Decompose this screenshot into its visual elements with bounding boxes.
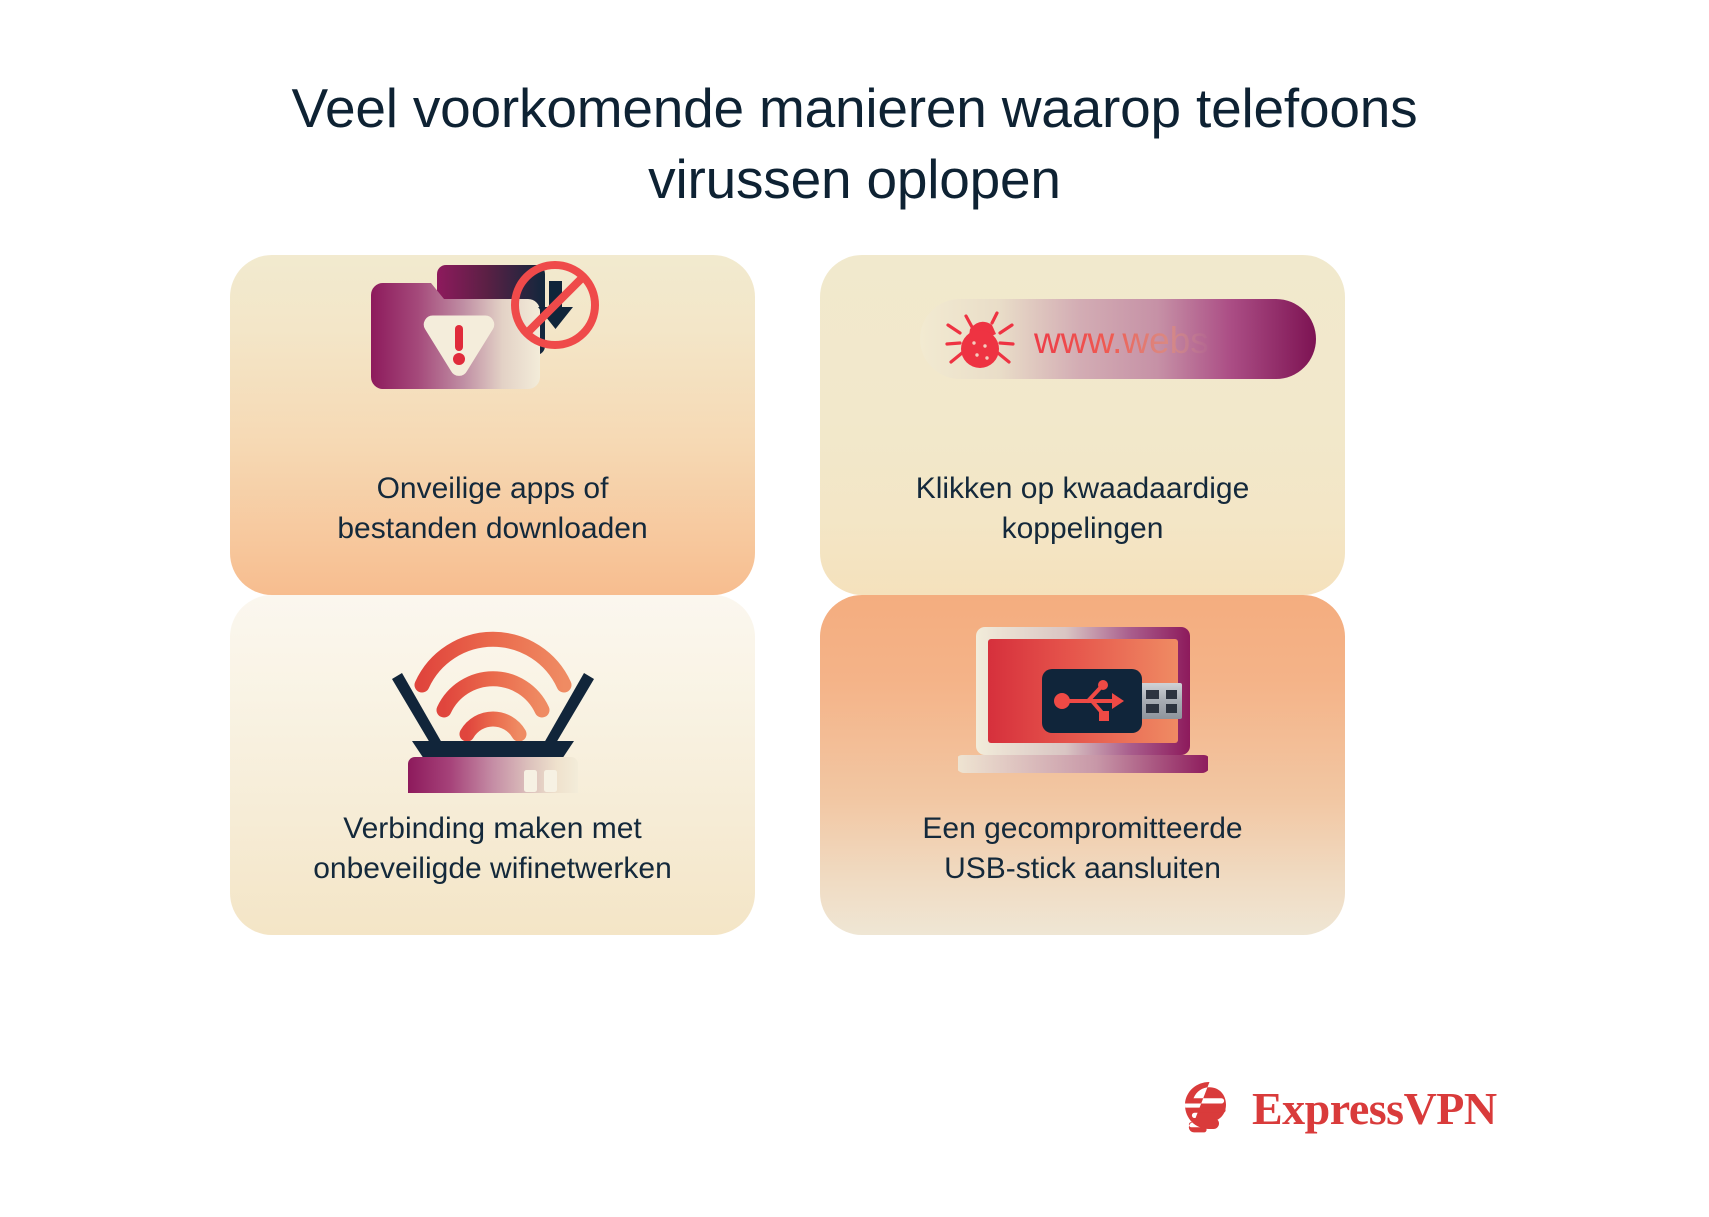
expressvpn-e-mark-icon — [1176, 1077, 1238, 1139]
card-1-icon-zone — [230, 255, 755, 470]
infographic-root: Veel voorkomende manieren waarop telefoo… — [0, 0, 1709, 1217]
wifi-router-icon — [378, 613, 608, 793]
card-3-caption: Verbinding maken met onbeveiligde wifine… — [254, 809, 731, 888]
card-malicious-links: www.webs Klikken op kwaadaardige koppeli… — [820, 255, 1345, 595]
card-3-caption-line-1: Verbinding maken met — [343, 812, 642, 845]
card-compromised-usb: Een gecompromitteerde USB-stick aansluit… — [820, 595, 1345, 935]
card-1-caption: Onveilige apps of bestanden downloaden — [254, 469, 731, 548]
card-2-caption-line-2: koppelingen — [1002, 512, 1164, 545]
card-unsecured-wifi: Verbinding maken met onbeveiligde wifine… — [230, 595, 755, 935]
card-1-caption-line-1: Onveilige apps of — [377, 472, 609, 505]
card-4-caption: Een gecompromitteerde USB-stick aansluit… — [844, 809, 1321, 888]
laptop-usb-stick-icon — [958, 613, 1208, 793]
folder-warning-no-download-icon — [363, 255, 623, 445]
card-grid: Onveilige apps of bestanden downloaden — [230, 255, 1345, 915]
page-title-line-2: virussen oplopen — [0, 144, 1709, 216]
card-4-caption-line-2: USB-stick aansluiten — [944, 852, 1221, 885]
card-2-icon-zone: www.webs — [820, 255, 1345, 470]
card-4-icon-zone — [820, 595, 1345, 810]
card-2-caption-line-1: Klikken op kwaadaardige — [916, 472, 1250, 505]
page-title: Veel voorkomende manieren waarop telefoo… — [0, 73, 1709, 216]
page-title-line-1: Veel voorkomende manieren waarop telefoo… — [0, 73, 1709, 145]
card-unsafe-downloads: Onveilige apps of bestanden downloaden — [230, 255, 755, 595]
card-3-caption-line-2: onbeveiligde wifinetwerken — [313, 852, 672, 885]
expressvpn-wordmark: ExpressVPN — [1252, 1082, 1497, 1135]
card-4-caption-line-1: Een gecompromitteerde — [922, 812, 1242, 845]
url-bar-bug-icon: www.webs — [908, 255, 1328, 445]
card-1-caption-line-2: bestanden downloaden — [337, 512, 647, 545]
card-2-caption: Klikken op kwaadaardige koppelingen — [844, 469, 1321, 548]
url-text: www.webs — [1033, 320, 1209, 361]
card-3-icon-zone — [230, 595, 755, 810]
expressvpn-logo[interactable]: ExpressVPN — [1176, 1073, 1497, 1143]
